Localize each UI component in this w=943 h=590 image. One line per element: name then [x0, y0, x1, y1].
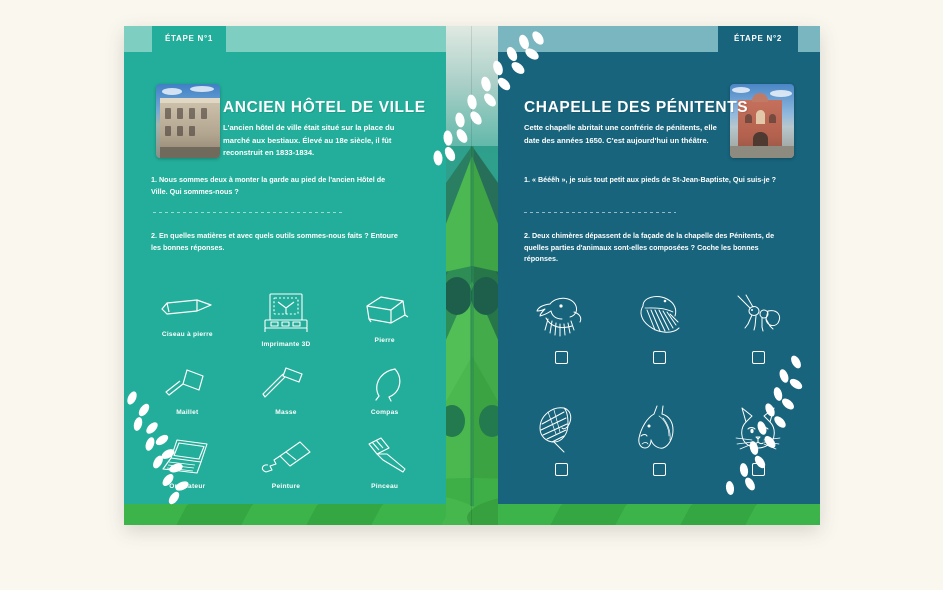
photo-cloud	[770, 90, 792, 97]
option-label: Peinture	[272, 483, 300, 490]
left-answer-line[interactable]	[153, 212, 343, 213]
horse-head-icon	[629, 402, 691, 454]
option-peinture[interactable]: Peinture	[237, 436, 336, 508]
paintbrush-icon	[355, 436, 415, 478]
option-label: Maillet	[176, 409, 198, 416]
left-question-1: 1. Nous sommes deux à monter la garde au…	[151, 174, 401, 197]
option-ant[interactable]	[709, 292, 808, 402]
right-page-intro: Cette chapelle abritait une confrérie de…	[524, 122, 720, 147]
option-butterfly-wing[interactable]	[512, 402, 611, 512]
right-options-grid	[512, 292, 808, 512]
option-pinceau[interactable]: Pinceau	[335, 436, 434, 508]
photo-window	[769, 114, 776, 123]
right-page-title: CHAPELLE DES PÉNITENTS	[524, 100, 748, 116]
right-page: ÉTAPE N°2 CHAPELLE DES PÉNITENTS Cette c…	[498, 26, 820, 525]
option-horse-head[interactable]	[611, 402, 710, 512]
photo-window	[189, 126, 195, 136]
cat-head-icon	[728, 402, 790, 454]
spine-fold-line	[471, 26, 472, 525]
sledgehammer-icon	[256, 364, 316, 404]
photo-cloud	[732, 87, 750, 93]
checkbox-bird-wing[interactable]	[653, 351, 666, 364]
checkbox-ant[interactable]	[752, 351, 765, 364]
option-ordinateur[interactable]: Ordinateur	[138, 436, 237, 508]
ant-icon	[728, 292, 790, 342]
photo-window	[201, 108, 207, 119]
photo-window	[165, 126, 171, 136]
option-label: Ordinateur	[169, 483, 205, 490]
photo-cloud	[162, 88, 182, 95]
checkbox-eagle-head[interactable]	[555, 351, 568, 364]
checkbox-cat-head[interactable]	[752, 463, 765, 476]
right-page-body: CHAPELLE DES PÉNITENTS Cette chapelle ab…	[498, 52, 820, 504]
option-maillet[interactable]: Maillet	[138, 364, 237, 436]
option-compas[interactable]: Compas	[335, 364, 434, 436]
photo-street	[160, 147, 220, 158]
butterfly-wing-icon	[530, 402, 592, 454]
option-label: Pierre	[375, 337, 395, 344]
stone-chisel-icon	[157, 292, 217, 326]
compass-icon	[355, 364, 415, 404]
left-page-title: ANCIEN HÔTEL DE VILLE	[223, 100, 426, 116]
option-eagle-head[interactable]	[512, 292, 611, 402]
left-page-photo	[156, 84, 220, 158]
screenshot-canvas: ÉTAPE N°1 AN	[0, 0, 943, 590]
eagle-head-icon	[530, 292, 592, 342]
3d-printer-icon	[256, 292, 316, 336]
photo-statue-niche	[756, 110, 765, 124]
checkbox-butterfly-wing[interactable]	[555, 463, 568, 476]
right-page-photo	[730, 84, 794, 158]
option-label: Masse	[275, 409, 296, 416]
right-question-2: 2. Deux chimères dépassent de la façade …	[524, 230, 786, 265]
mallet-icon	[157, 364, 217, 404]
photo-window	[165, 108, 171, 119]
photo-cornice	[160, 98, 220, 103]
option-cat-head[interactable]	[709, 402, 808, 512]
left-page: ÉTAPE N°1 AN	[124, 26, 446, 525]
paint-tube-icon	[256, 436, 316, 478]
option-label: Compas	[371, 409, 399, 416]
photo-window	[177, 108, 183, 119]
left-page-intro: L'ancien hôtel de ville était situé sur …	[223, 122, 409, 160]
option-pierre[interactable]: Pierre	[335, 292, 434, 364]
option-masse[interactable]: Masse	[237, 364, 336, 436]
right-answer-line[interactable]	[524, 212, 676, 213]
right-question-1: 1. « Bééêh », je suis tout petit aux pie…	[524, 174, 786, 186]
option-ciseau-a-pierre[interactable]: Ciseau à pierre	[138, 292, 237, 364]
option-bird-wing[interactable]	[611, 292, 710, 402]
option-imprimante-3d[interactable]: Imprimante 3D	[237, 292, 336, 364]
right-bottom-leaf-strip	[498, 504, 820, 525]
left-question-2: 2. En quelles matières et avec quels out…	[151, 230, 401, 253]
photo-window	[189, 108, 195, 119]
option-label: Pinceau	[371, 483, 398, 490]
bird-wing-icon	[629, 292, 691, 342]
photo-pediment	[752, 93, 768, 102]
left-step-badge: ÉTAPE N°1	[152, 26, 226, 52]
photo-window	[177, 126, 183, 136]
left-page-body: ANCIEN HÔTEL DE VILLE L'ancien hôtel de …	[124, 52, 446, 504]
laptop-icon	[157, 436, 217, 478]
right-step-badge: ÉTAPE N°2	[718, 26, 798, 52]
stone-block-icon	[355, 292, 415, 332]
checkbox-horse-head[interactable]	[653, 463, 666, 476]
photo-street	[730, 146, 794, 158]
option-label: Imprimante 3D	[261, 341, 310, 348]
left-bottom-leaf-strip	[124, 504, 446, 525]
option-label: Ciseau à pierre	[162, 331, 213, 338]
booklet-spread: ÉTAPE N°1 AN	[124, 26, 820, 525]
photo-cloud	[190, 86, 214, 92]
left-options-grid: Ciseau à pierre Imprimante 3D	[138, 292, 434, 508]
